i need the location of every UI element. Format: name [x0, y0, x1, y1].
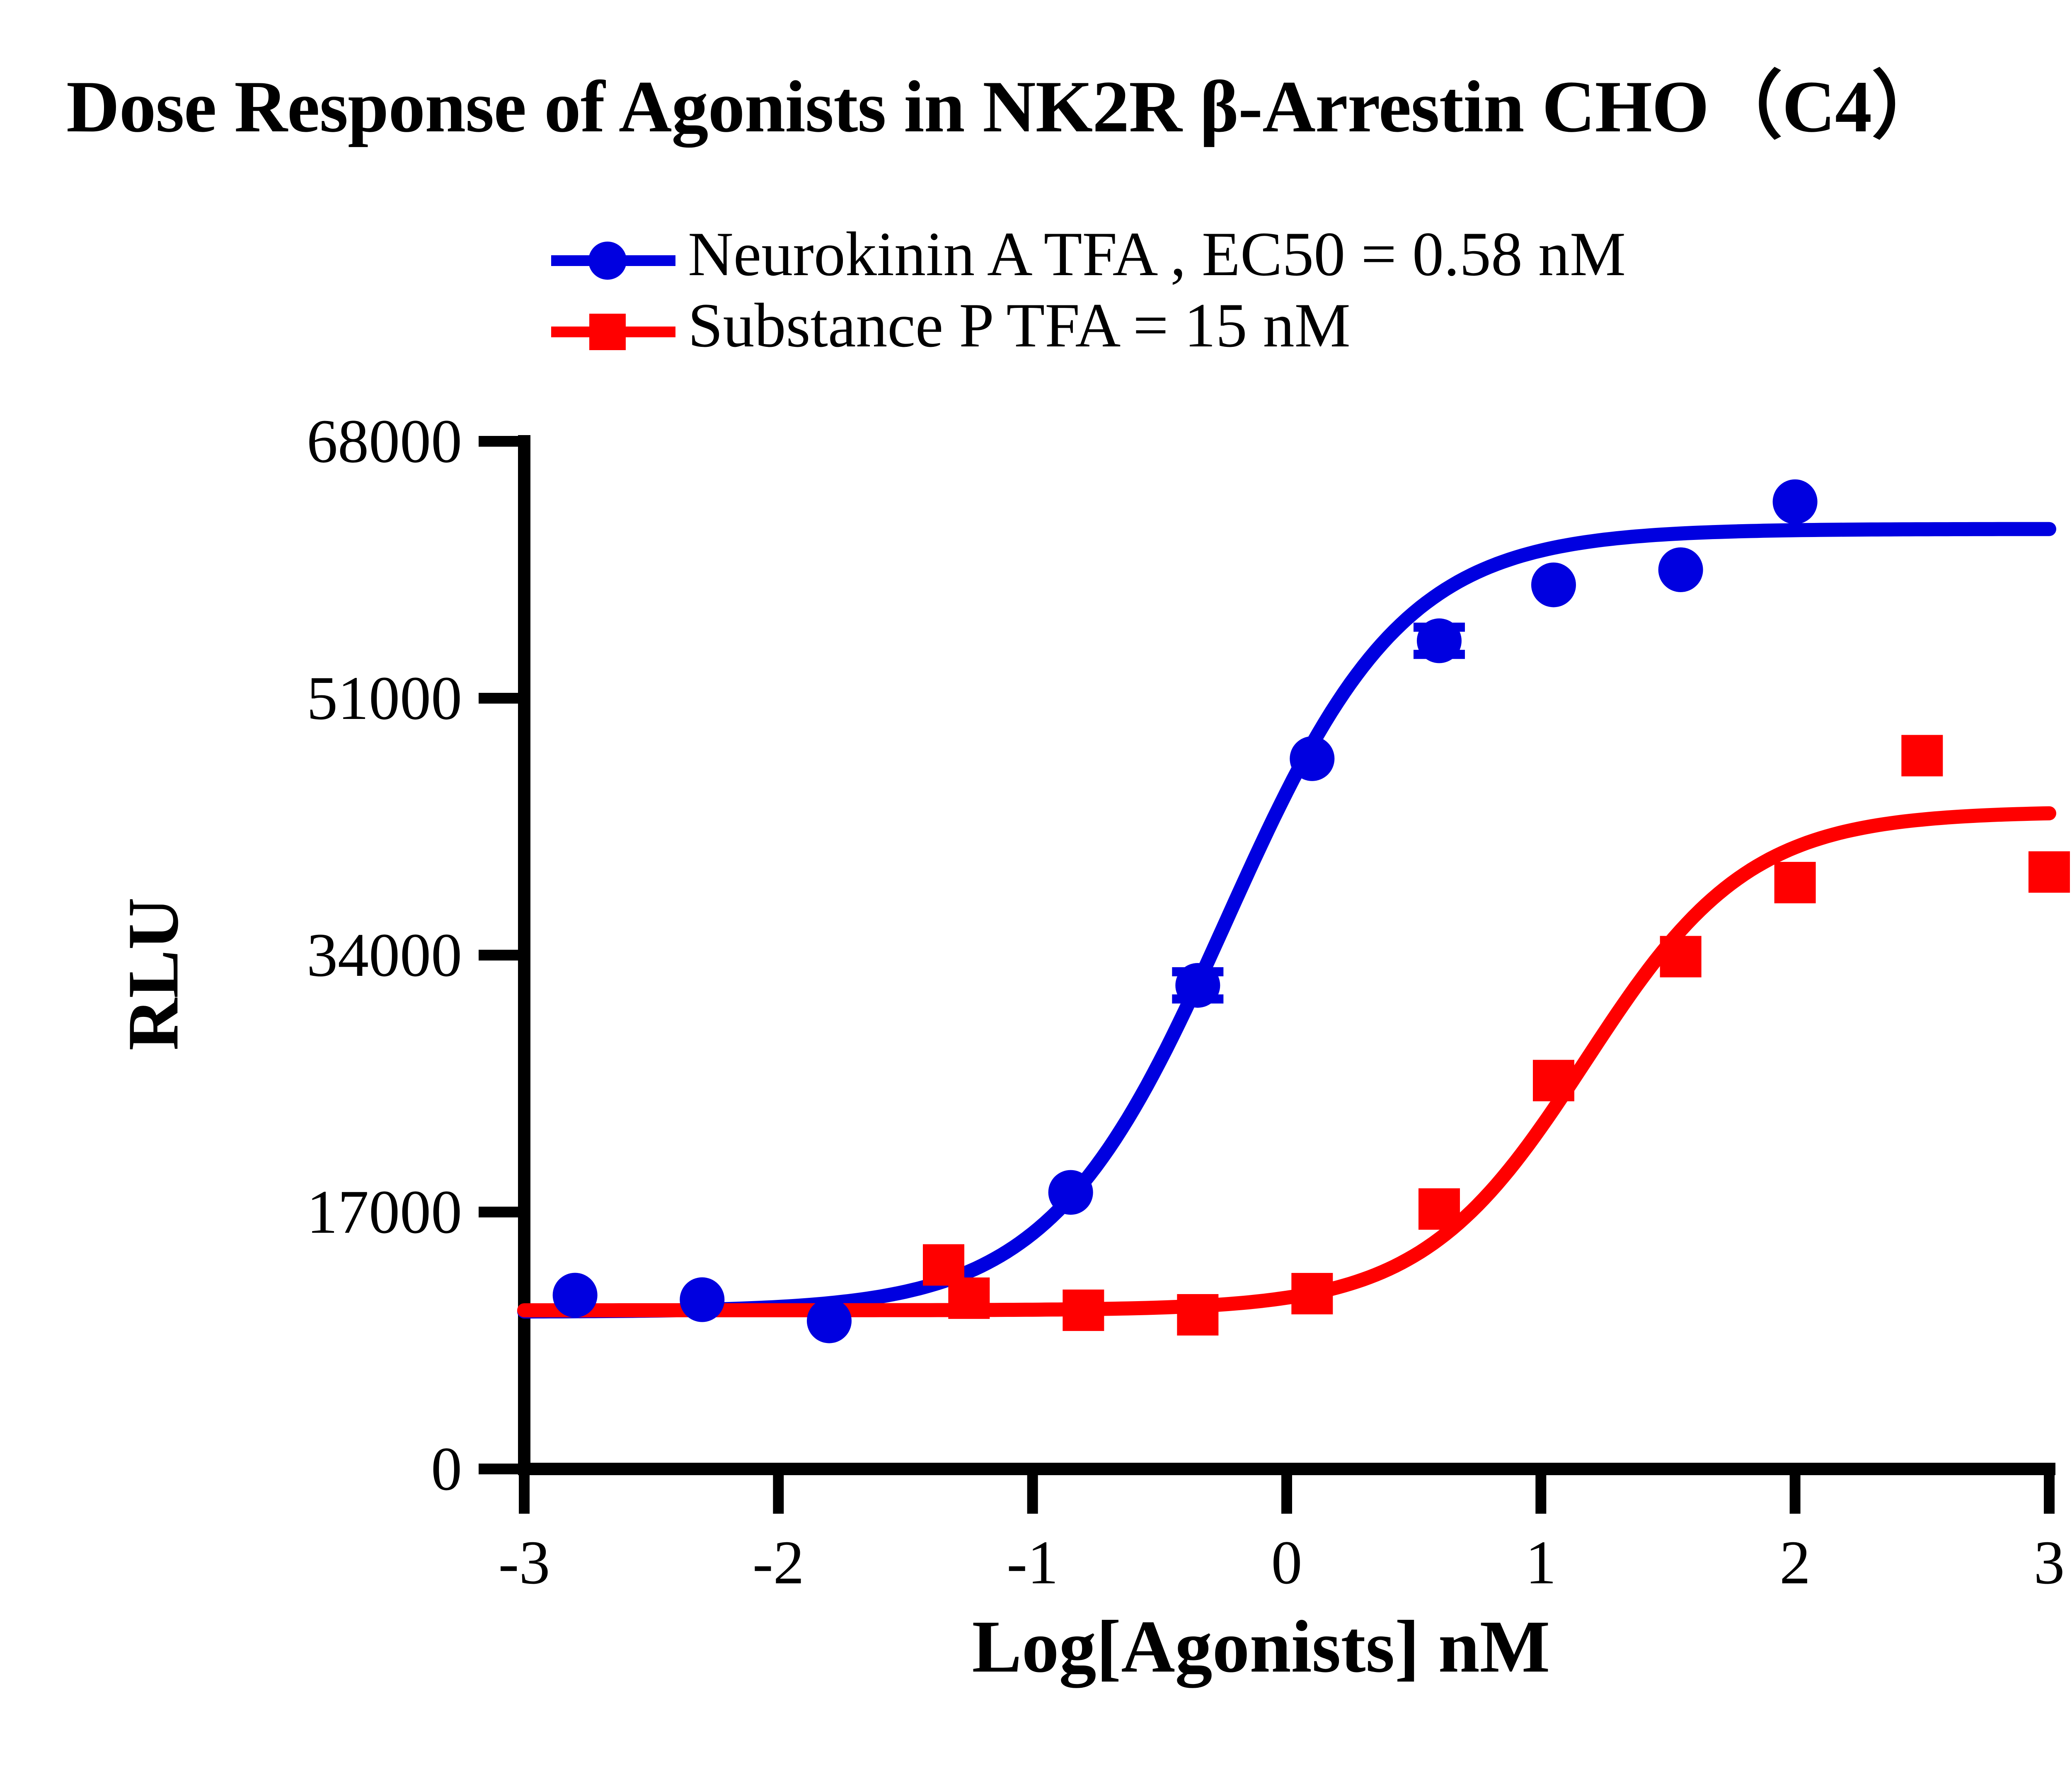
data-point-substance-p [1774, 862, 1816, 903]
x-axis-tick [1535, 1469, 1546, 1514]
data-point-neurokinin [553, 1273, 598, 1318]
data-point-substance-p [1291, 1273, 1333, 1314]
data-point-substance-p [1177, 1294, 1218, 1336]
data-point-substance-p [1063, 1290, 1104, 1331]
data-point-neurokinin [680, 1278, 724, 1322]
data-point-substance-p [1660, 936, 1702, 978]
data-point-neurokinin [1531, 562, 1576, 607]
points-layer [553, 479, 2070, 1343]
x-axis-tick [773, 1469, 784, 1514]
y-tick-label: 0 [0, 1433, 462, 1505]
data-point-neurokinin [1290, 736, 1334, 781]
x-tick-label: -2 [753, 1527, 804, 1598]
data-point-neurokinin [1417, 618, 1462, 663]
data-point-substance-p [1533, 1060, 1574, 1101]
y-tick-label: 17000 [0, 1176, 462, 1248]
data-point-neurokinin [1658, 547, 1703, 592]
y-axis-tick [479, 950, 524, 961]
y-axis-title: RLU [111, 898, 195, 1050]
y-axis-tick [479, 1207, 524, 1217]
curve-layer [524, 529, 2049, 1311]
x-axis-tick [2044, 1469, 2055, 1514]
figure-root: Dose Response of Agonists in NK2R β-Arre… [0, 0, 2072, 1776]
x-axis-tick [1790, 1469, 1801, 1514]
axis-layer [479, 435, 2055, 1514]
x-tick-label: -3 [499, 1527, 550, 1598]
y-axis-tick [479, 1464, 524, 1474]
fit-curve-neurokinin [524, 529, 2049, 1311]
x-axis-tick [1027, 1469, 1038, 1514]
y-axis-tick [479, 436, 524, 447]
y-tick-label: 68000 [0, 406, 462, 477]
plot-canvas [0, 0, 2072, 1776]
x-tick-label: 2 [1779, 1527, 1811, 1598]
x-axis-tick [519, 1469, 530, 1514]
plot-area: 017000340005100068000-3-2-10123 [0, 0, 2072, 1776]
x-axis-tick [1281, 1469, 1292, 1514]
x-tick-label: -1 [1007, 1527, 1058, 1598]
data-point-neurokinin [1175, 963, 1220, 1008]
x-tick-label: 0 [1271, 1527, 1302, 1598]
fit-curve-substance-p [524, 813, 2049, 1310]
x-tick-label: 1 [1525, 1527, 1556, 1598]
data-point-substance-p [2028, 851, 2070, 893]
y-axis-tick [479, 693, 524, 704]
data-point-neurokinin [1773, 479, 1818, 524]
data-point-substance-p [1418, 1188, 1460, 1230]
data-point-substance-p [948, 1278, 990, 1319]
y-tick-label: 51000 [0, 663, 462, 734]
data-point-substance-p [1901, 735, 1943, 777]
x-axis-title: Log[Agonists] nM [0, 1604, 2072, 1689]
y-tick-label: 34000 [0, 919, 462, 991]
data-point-neurokinin [807, 1299, 852, 1343]
x-tick-label: 3 [2034, 1527, 2065, 1598]
data-point-neurokinin [1048, 1170, 1093, 1215]
